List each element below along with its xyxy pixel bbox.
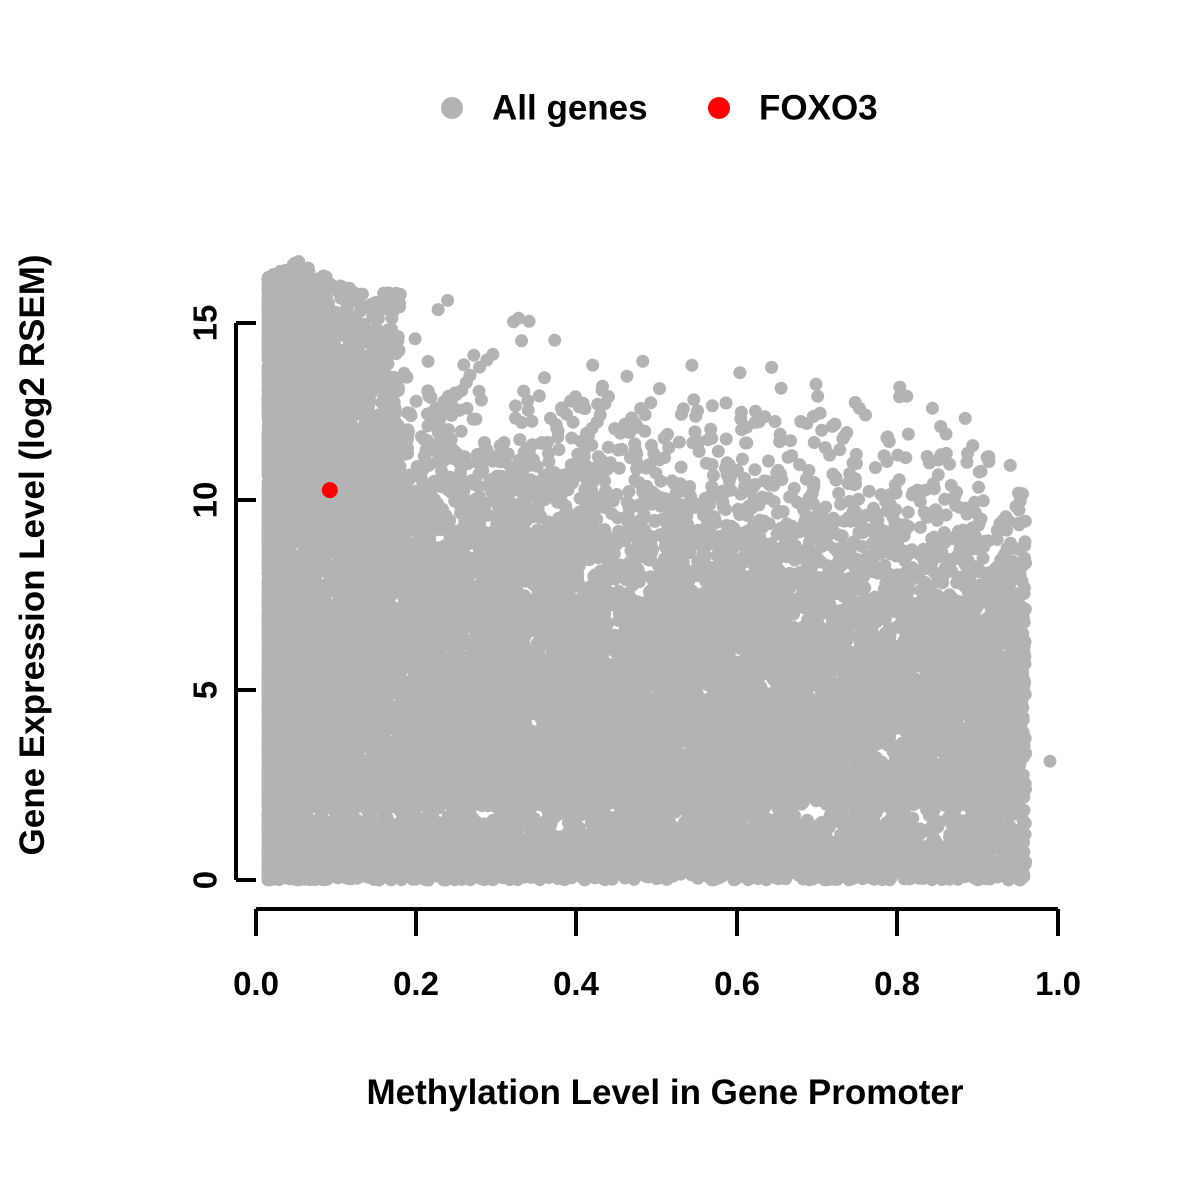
legend-marker-foxo3 [708, 97, 730, 119]
legend-marker-all-genes [441, 97, 463, 119]
y-axis-title: Gene Expression Level (log2 RSEM) [13, 255, 52, 856]
x-tick-label-4: 0.8 [874, 965, 920, 1002]
data-point-foxo3[interactable] [322, 482, 338, 498]
y-tick-label-0: 0 [187, 871, 224, 889]
x-axis-title: Methylation Level in Gene Promoter [366, 1073, 963, 1112]
plot-canvas: 0 5 10 15 0.0 0.2 0.4 0.6 0.8 1.0 Methyl… [0, 0, 1200, 1200]
y-tick-label-5: 5 [187, 681, 224, 699]
x-tick-label-2: 0.4 [553, 965, 600, 1002]
x-tick-label-1: 0.2 [393, 965, 439, 1002]
x-tick-label-5: 1.0 [1035, 965, 1081, 1002]
y-tick-label-10: 10 [187, 482, 224, 519]
foxo3-point[interactable] [322, 482, 338, 498]
x-tick-label-0: 0.0 [233, 965, 279, 1002]
scatter-plot-figure: 0 5 10 15 0.0 0.2 0.4 0.6 0.8 1.0 Methyl… [0, 0, 1200, 1200]
legend-label-all-genes: All genes [492, 89, 648, 128]
y-tick-label-15: 15 [187, 305, 224, 342]
legend-label-foxo3: FOXO3 [759, 89, 878, 128]
x-tick-label-3: 0.6 [714, 965, 760, 1002]
